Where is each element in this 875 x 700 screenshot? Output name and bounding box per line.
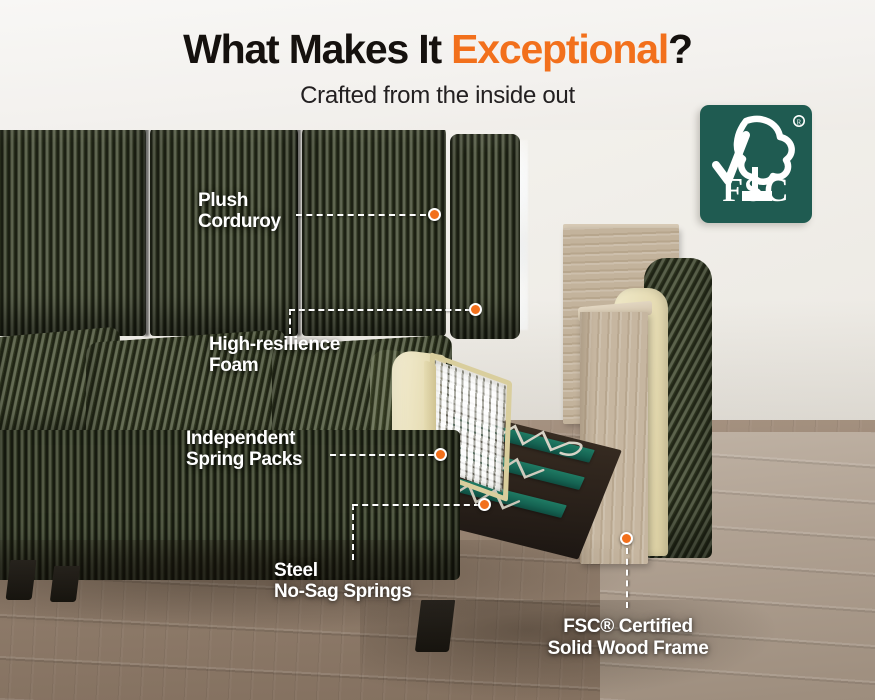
page-title-accent: Exceptional [451, 26, 668, 72]
leader-line-foam-horizontal [289, 309, 471, 311]
fsc-logo-wordmark: FSC [700, 171, 812, 211]
page-title-plain: What Makes It [183, 26, 451, 72]
cushion-seam-1 [144, 124, 149, 336]
product-feature-graphic: What Makes It Exceptional? Crafted from … [0, 0, 875, 700]
callout-dot-fsc-solid-wood-frame[interactable] [620, 532, 633, 545]
callout-dot-steel-no-sag-springs[interactable] [478, 498, 491, 511]
back-cushion-3 [302, 124, 446, 336]
callout-dot-plush-corduroy[interactable] [428, 208, 441, 221]
back-cushion-1 [0, 124, 146, 336]
leader-line-plush-corduroy [296, 214, 426, 216]
svg-text:FSC: FSC [722, 172, 789, 209]
svg-text:R: R [797, 118, 802, 126]
callout-label-plush-corduroy: Plush Corduroy [198, 190, 281, 233]
callout-label-independent-spring-packs: Independent Spring Packs [186, 428, 302, 471]
leader-line-nosag-vertical [352, 504, 354, 560]
callout-dot-high-resilience-foam[interactable] [469, 303, 482, 316]
callout-label-fsc-solid-wood-frame: FSC® Certified Solid Wood Frame [528, 616, 728, 660]
callout-dot-independent-spring-packs[interactable] [434, 448, 447, 461]
callout-label-steel-no-sag-springs: Steel No-Sag Springs [274, 560, 412, 603]
cushion-seam-2 [296, 124, 301, 336]
leader-line-fsc-frame [626, 548, 628, 608]
leader-line-spring-packs [330, 454, 434, 456]
fsc-certification-badge: R FSC [700, 105, 812, 223]
leader-line-nosag-horizontal [352, 504, 480, 506]
leader-line-foam-vertical [289, 309, 291, 334]
page-title: What Makes It Exceptional? [0, 26, 875, 73]
page-title-suffix: ? [668, 26, 692, 72]
callout-label-high-resilience-foam: High-resilience Foam [209, 334, 340, 377]
